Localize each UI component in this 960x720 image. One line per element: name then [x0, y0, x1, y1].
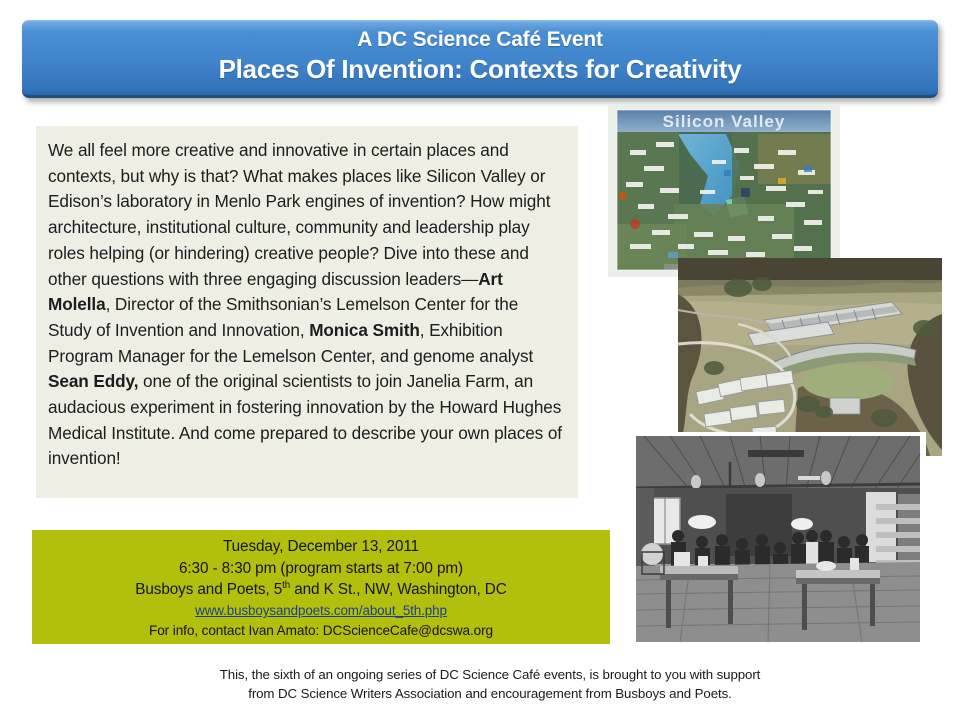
photo-menlo-park-lab — [630, 432, 926, 648]
event-venue-suffix: and K St., NW, Washington, DC — [290, 581, 507, 598]
event-header-banner: A DC Science Café Event Places Of Invent… — [22, 20, 938, 98]
event-venue-prefix: Busboys and Poets, 5 — [135, 581, 282, 598]
description-paragraph: We all feel more creative and innovative… — [48, 138, 564, 472]
event-time: 6:30 - 8:30 pm (program starts at 7:00 p… — [179, 558, 463, 580]
event-venue-ordinal: th — [282, 580, 290, 591]
description-run: We all feel more creative and innovative… — [48, 140, 550, 289]
venue-website-link[interactable]: www.busboysandpoets.com/about_5th.php — [195, 601, 447, 621]
footer-line-1: This, the sixth of an ongoing series of … — [150, 665, 830, 684]
banner-subtitle: A DC Science Café Event — [357, 28, 603, 52]
menlo-park-laboratory-image — [630, 432, 926, 648]
event-details-box: Tuesday, December 13, 2011 6:30 - 8:30 p… — [32, 530, 610, 644]
footer-note: This, the sixth of an ongoing series of … — [150, 665, 830, 703]
event-venue: Busboys and Poets, 5th and K St., NW, Wa… — [135, 579, 506, 601]
speaker-name: Monica Smith — [309, 320, 420, 340]
event-contact-info: For info, contact Ivan Amato: DCScienceC… — [149, 621, 493, 641]
speaker-name: Sean Eddy, — [48, 371, 138, 391]
photo-janelia-farm — [678, 258, 942, 456]
event-date: Tuesday, December 13, 2011 — [223, 536, 419, 558]
janelia-farm-aerial-image — [678, 258, 942, 456]
svg-text:Silicon Valley: Silicon Valley — [663, 112, 786, 131]
banner-title: Places Of Invention: Contexts for Creati… — [219, 54, 742, 85]
silicon-valley-map-image: Silicon Valley — [608, 104, 840, 277]
description-panel: We all feel more creative and innovative… — [36, 126, 578, 498]
footer-line-2: from DC Science Writers Association and … — [150, 684, 830, 703]
photo-silicon-valley: Silicon Valley — [608, 104, 840, 277]
